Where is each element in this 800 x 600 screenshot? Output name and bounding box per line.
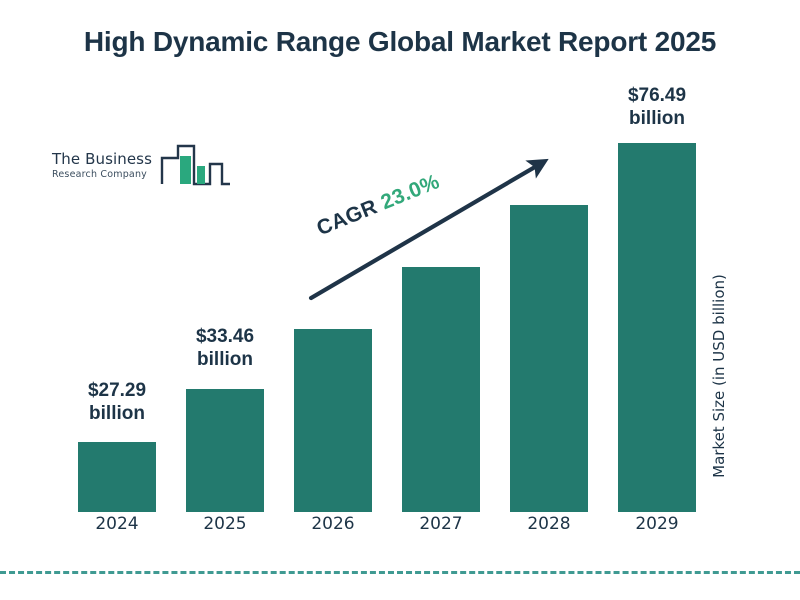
x-axis-label-2028: 2028 [510,514,588,534]
x-axis-label-2026: 2026 [294,514,372,534]
bar-2028 [510,205,588,512]
bar-value-label-2029-amount: $76.49 [604,84,710,107]
footer-divider [0,571,800,574]
bar-value-label-2024-unit: billion [64,402,170,425]
x-axis-label-2027: 2027 [402,514,480,534]
chart-page: High Dynamic Range Global Market Report … [0,0,800,600]
x-axis-label-2024: 2024 [78,514,156,534]
bar-2024 [78,442,156,512]
y-axis-title-text: Market Size (in USD billion) [710,256,728,496]
bar-2026 [294,329,372,512]
bar-2025 [186,389,264,512]
bar-value-label-2029-unit: billion [604,107,710,130]
cagr-label: CAGR [314,195,381,240]
bar-2027 [402,267,480,512]
x-axis-label-2029: 2029 [618,514,696,534]
bar-value-label-2029: $76.49 billion [604,84,710,130]
bar-value-label-2024-amount: $27.29 [64,379,170,402]
bar-value-label-2025-unit: billion [172,348,278,371]
cagr-annotation: CAGR 23.0% [314,170,444,241]
bar-2029 [618,143,696,512]
bar-chart-plot-area: $27.29 billion $33.46 billion $76.49 bil… [0,0,800,600]
y-axis-title: Market Size (in USD billion) [710,16,728,256]
cagr-value: 23.0% [378,170,443,214]
x-axis-label-2025: 2025 [186,514,264,534]
bar-value-label-2025-amount: $33.46 [172,325,278,348]
bar-value-label-2024: $27.29 billion [64,379,170,425]
bar-value-label-2025: $33.46 billion [172,325,278,371]
